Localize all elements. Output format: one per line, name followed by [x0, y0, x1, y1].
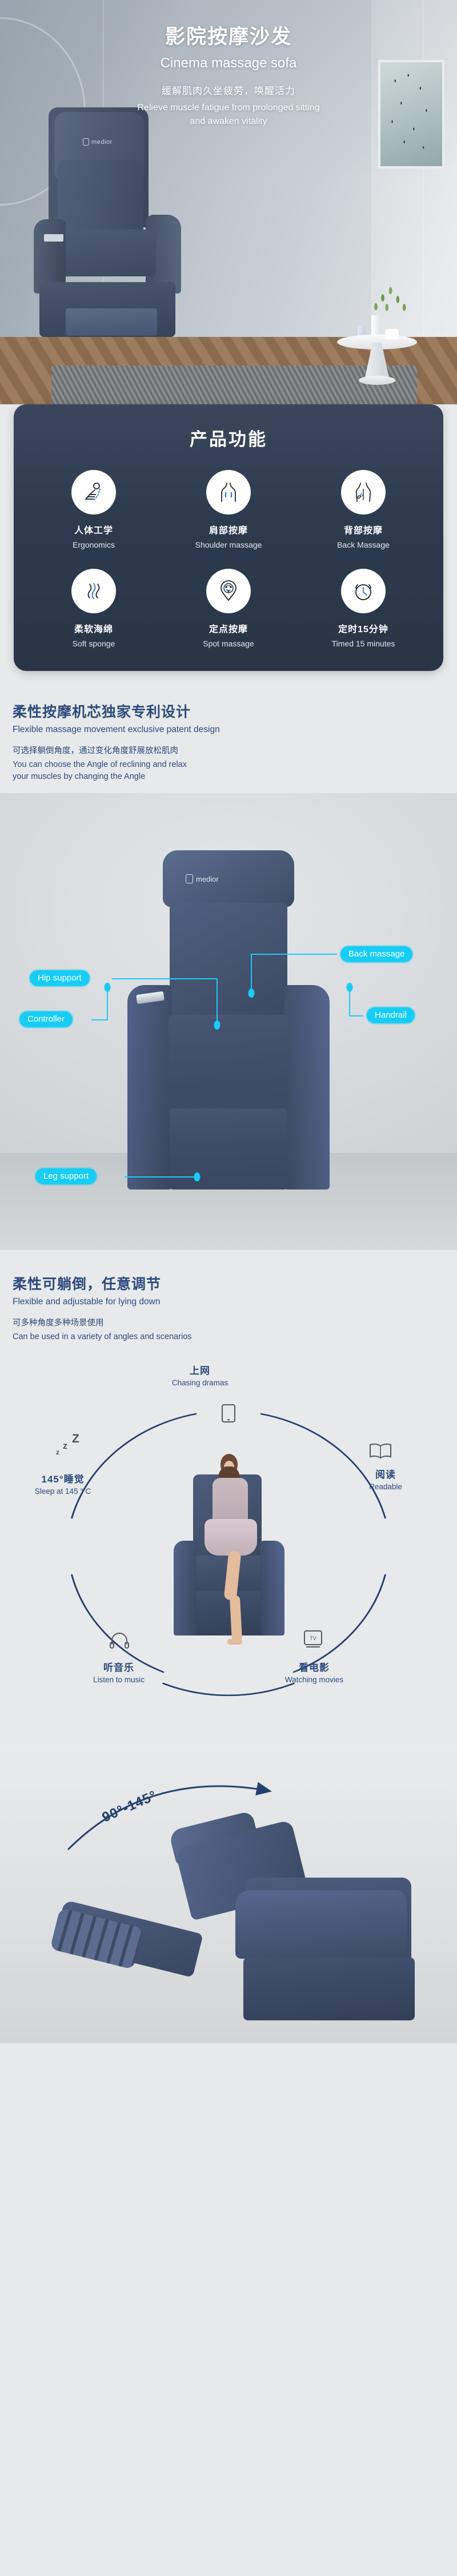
patent-section: 柔性按摩机芯独家专利设计 Flexible massage movement e… [0, 686, 457, 1250]
earbuds-case [385, 329, 399, 339]
product-features-section: 产品功能 人体工学 Ergonomics [0, 404, 457, 686]
chair-controller [44, 234, 63, 242]
brand-mark-icon [83, 138, 89, 146]
shoulder-massage-icon [206, 470, 251, 515]
feature-label-en: Ergonomics [26, 540, 161, 549]
hero-subtitle-en-line1: Relieve muscle fatigue from prolonged si… [0, 102, 457, 114]
feature-label-cn: 定时15分钟 [296, 621, 431, 635]
product-detail-page: medior 影院按摩沙发 Cinema massage sofa 缓解肌肉久坐… [0, 0, 457, 2043]
hero-subtitle-en-line2: and awaken vitality [0, 115, 457, 128]
feature-item[interactable]: 人体工学 Ergonomics [26, 470, 161, 549]
hero-massage-chair: medior [31, 107, 203, 347]
hero-text-block: 影院按摩沙发 Cinema massage sofa 缓解肌肉久坐疲劳，唤醒活力… [0, 21, 457, 127]
feature-item[interactable]: 背部按摩 Back Massage [296, 470, 431, 549]
spot-massage-pin-icon [206, 569, 251, 613]
feature-label-en: Timed 15 minutes [296, 639, 431, 648]
feature-label-en: Soft sponge [26, 639, 161, 648]
brand-name: medior [91, 139, 113, 146]
feature-item[interactable]: 柔软海绵 Soft sponge [26, 569, 161, 648]
recline-angle-section: 90°-145° [0, 1746, 457, 2043]
hero-banner: medior 影院按摩沙发 Cinema massage sofa 缓解肌肉久坐… [0, 0, 457, 451]
feature-item[interactable]: 定点按摩 Spot massage [161, 569, 296, 648]
sleep-zzz-icon: z [63, 1441, 67, 1452]
chair-callout-diagram: medior [0, 793, 457, 1250]
hero-title-en: Cinema massage sofa [0, 55, 457, 71]
sleep-zzz-icon: z [56, 1448, 59, 1456]
scenario-label-en: Chasing dramas [154, 1379, 246, 1387]
svg-text:TV: TV [310, 1635, 316, 1641]
scenario-label-cn: 145°睡觉 [6, 1471, 120, 1485]
callout-leg-support[interactable]: Leg support [35, 1168, 97, 1184]
feature-label-cn: 定点按摩 [161, 621, 296, 635]
feature-label-cn: 人体工学 [26, 523, 161, 536]
scenario-label-cn: 阅读 [343, 1466, 428, 1481]
scenario-listen-to-music[interactable]: 听音乐 Listen to music [67, 1659, 170, 1684]
book-icon [368, 1442, 392, 1462]
brand-logo: medior [83, 138, 113, 146]
patent-subtitle-en-line1: You can choose the Angle of reclining an… [13, 759, 444, 771]
timer-clock-icon [341, 569, 386, 613]
recline-title-cn: 柔性可躺倒，任意调节 [13, 1273, 444, 1293]
scenario-label-cn: 听音乐 [67, 1659, 170, 1674]
tablet-icon [220, 1404, 237, 1426]
features-card: 产品功能 人体工学 Ergonomics [14, 404, 443, 671]
reclined-massage-chair [34, 1838, 434, 2026]
recline-title-en: Flexible and adjustable for lying down [13, 1297, 444, 1307]
patent-title-en: Flexible massage movement exclusive pate… [13, 725, 444, 735]
scenario-label-en: Readable [343, 1482, 428, 1491]
feature-label-cn: 柔软海绵 [26, 621, 161, 635]
features-title: 产品功能 [26, 425, 431, 451]
feature-label-en: Back Massage [296, 540, 431, 549]
callout-back-massage[interactable]: Back massage [340, 946, 412, 962]
headphones-icon [110, 1632, 129, 1652]
scenario-watching-movies[interactable]: 看电影 Watching movies [257, 1659, 371, 1684]
scenario-sleep-145[interactable]: 145°睡觉 Sleep at 145 ° C [6, 1471, 120, 1496]
back-massage-icon [341, 470, 386, 515]
feature-label-en: Spot massage [161, 639, 296, 648]
recline-subtitle-en: Can be used in a variety of angles and s… [13, 1331, 444, 1343]
plant-icon [367, 279, 412, 319]
feature-label-cn: 肩部按摩 [161, 523, 296, 536]
ergonomic-seat-icon [71, 470, 116, 515]
hero-title-cn: 影院按摩沙发 [0, 21, 457, 50]
scenario-label-en: Listen to music [67, 1675, 170, 1684]
recline-heading-block: 柔性可躺倒，任意调节 Flexible and adjustable for l… [0, 1250, 457, 1347]
hero-subtitle-cn: 缓解肌肉久坐疲劳，唤醒活力 [0, 83, 457, 97]
recline-section: 柔性可躺倒，任意调节 Flexible and adjustable for l… [0, 1250, 457, 1746]
patent-subtitle-en-line2: your muscles by changing the Angle [13, 771, 444, 783]
recline-subtitle-cn: 可多种角度多种场景使用 [13, 1316, 444, 1328]
feature-label-cn: 背部按摩 [296, 523, 431, 536]
scenario-label-cn: 看电影 [257, 1659, 371, 1674]
tv-icon: TV [302, 1630, 324, 1652]
feature-item[interactable]: 定时15分钟 Timed 15 minutes [296, 569, 431, 648]
usage-scenarios-diagram: 上网 Chasing dramas 阅读 Readable 145°睡觉 Sle… [0, 1347, 457, 1746]
side-table [337, 310, 417, 384]
scenario-chasing-dramas[interactable]: 上网 Chasing dramas [154, 1363, 246, 1387]
patent-heading-block: 柔性按摩机芯独家专利设计 Flexible massage movement e… [0, 686, 457, 786]
scenario-label-en: Sleep at 145 ° C [6, 1487, 120, 1496]
callout-controller[interactable]: Controller [19, 1011, 73, 1027]
callout-hip-support[interactable]: Hip support [30, 970, 90, 986]
feature-label-en: Shoulder massage [161, 540, 296, 549]
patent-title-cn: 柔性按摩机芯独家专利设计 [13, 701, 444, 721]
scenario-readable[interactable]: 阅读 Readable [343, 1466, 428, 1491]
seated-person-on-chair [171, 1455, 286, 1643]
feature-item[interactable]: 肩部按摩 Shoulder massage [161, 470, 296, 549]
callout-handrail[interactable]: Handrail [367, 1007, 415, 1023]
scenario-label-cn: 上网 [154, 1363, 246, 1377]
features-grid: 人体工学 Ergonomics 肩部按摩 Shoulder massage [26, 470, 431, 648]
scenario-label-en: Watching movies [257, 1675, 371, 1684]
soft-sponge-waves-icon [71, 569, 116, 613]
sleep-zzz-icon: Z [72, 1432, 79, 1446]
patent-subtitle-cn: 可选择躺倒角度，通过变化角度舒展放松肌肉 [13, 744, 444, 756]
